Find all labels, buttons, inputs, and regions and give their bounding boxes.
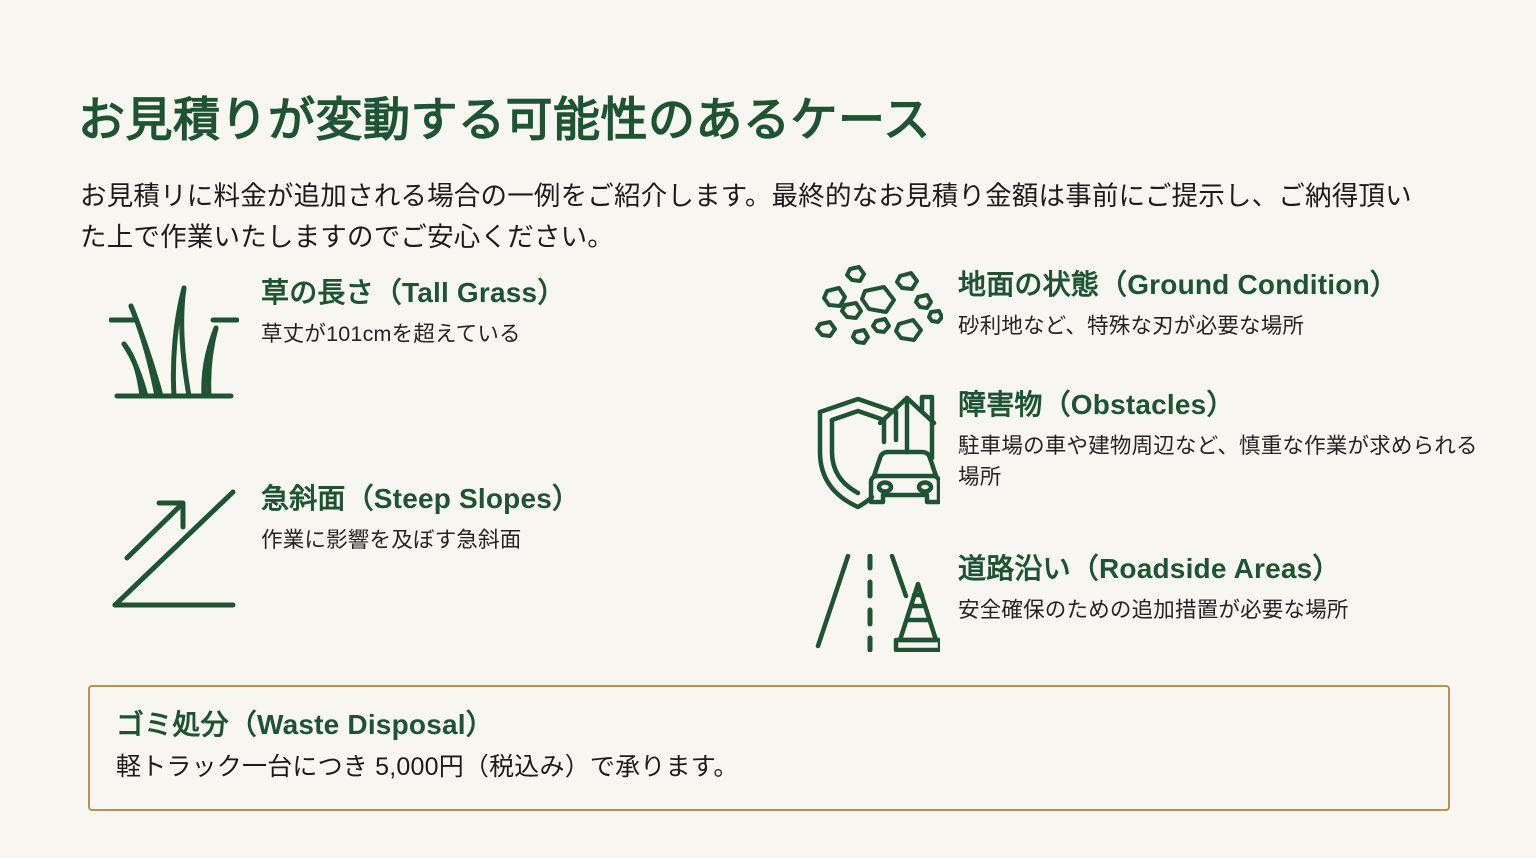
- road-cone-icon: [795, 544, 958, 652]
- feature-description: 草丈が101cmを超えている: [261, 319, 726, 350]
- feature-text-ground-condition: 地面の状態（Ground Condition） 砂利地など、特殊な刃が必要な場所: [958, 252, 1495, 342]
- slide-root: お見積りが変動する可能性のあるケース お見積リに料金が追加される場合の一例をご紹…: [0, 0, 1536, 858]
- shield-house-car-icon: [795, 382, 958, 512]
- feature-description: 駐車場の車や建物周辺など、慎重な作業が求められる場所: [958, 431, 1495, 493]
- feature-item-obstacles: 障害物（Obstacles） 駐車場の車や建物周辺など、慎重な作業が求められる場…: [795, 382, 1495, 512]
- feature-text-roadside: 道路沿い（Roadside Areas） 安全確保のための追加措置が必要な場所: [958, 544, 1495, 626]
- feature-title: 道路沿い（Roadside Areas）: [958, 552, 1495, 586]
- feature-title: 草の長さ（Tall Grass）: [261, 276, 726, 310]
- page-subtitle: お見積リに料金が追加される場合の一例をご紹介します。最終的なお見積り金額は事前に…: [80, 176, 1420, 258]
- feature-title: 急斜面（Steep Slopes）: [261, 482, 726, 516]
- waste-disposal-callout: ゴミ処分（Waste Disposal） 軽トラック一台につき 5,000円（税…: [88, 685, 1450, 811]
- callout-body: 軽トラック一台につき 5,000円（税込み）で承ります。: [116, 747, 739, 783]
- feature-item-steep-slopes: 急斜面（Steep Slopes） 作業に影響を及ぼす急斜面: [86, 482, 726, 612]
- feature-text-steep-slopes: 急斜面（Steep Slopes） 作業に影響を及ぼす急斜面: [261, 482, 726, 556]
- feature-description: 砂利地など、特殊な刃が必要な場所: [958, 311, 1495, 342]
- slope-arrow-icon: [86, 482, 261, 612]
- feature-title: 障害物（Obstacles）: [958, 388, 1495, 422]
- callout-title: ゴミ処分（Waste Disposal）: [116, 703, 494, 743]
- gravel-stones-icon: [795, 252, 958, 356]
- feature-description: 作業に影響を及ぼす急斜面: [261, 525, 726, 556]
- feature-item-roadside: 道路沿い（Roadside Areas） 安全確保のための追加措置が必要な場所: [795, 544, 1495, 652]
- feature-text-obstacles: 障害物（Obstacles） 駐車場の車や建物周辺など、慎重な作業が求められる場…: [958, 382, 1495, 493]
- feature-grid: 草の長さ（Tall Grass） 草丈が101cmを超えている 急斜面（Stee…: [0, 252, 1536, 662]
- feature-text-tall-grass: 草の長さ（Tall Grass） 草丈が101cmを超えている: [261, 276, 726, 350]
- feature-description: 安全確保のための追加措置が必要な場所: [958, 595, 1495, 626]
- grass-icon: [86, 276, 261, 402]
- feature-item-ground-condition: 地面の状態（Ground Condition） 砂利地など、特殊な刃が必要な場所: [795, 252, 1495, 356]
- feature-item-tall-grass: 草の長さ（Tall Grass） 草丈が101cmを超えている: [86, 276, 726, 402]
- feature-title: 地面の状態（Ground Condition）: [958, 268, 1495, 302]
- page-title: お見積りが変動する可能性のあるケース: [78, 93, 931, 147]
